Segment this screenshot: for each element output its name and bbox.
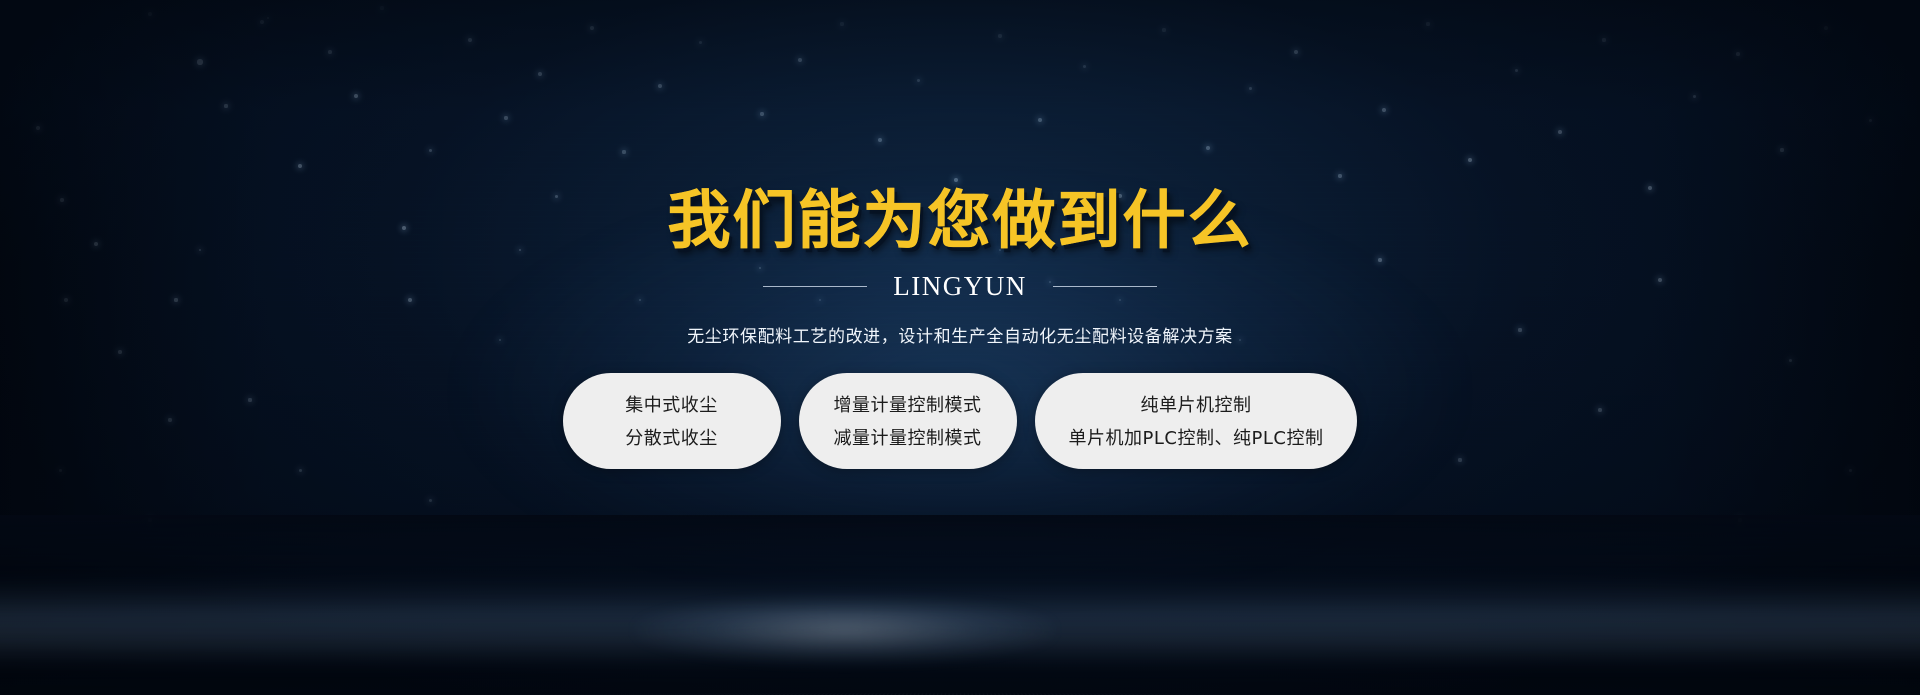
card-line-secondary: 减量计量控制模式 bbox=[834, 424, 982, 450]
brand-name: LINGYUN bbox=[893, 271, 1026, 302]
particle-wave-graphic bbox=[0, 515, 1920, 695]
feature-card-control-system[interactable]: 纯单片机控制 单片机加PLC控制、纯PLC控制 bbox=[1035, 373, 1358, 469]
card-line-primary: 集中式收尘 bbox=[625, 391, 718, 417]
feature-card-list: 集中式收尘 分散式收尘 增量计量控制模式 减量计量控制模式 纯单片机控制 单片机… bbox=[0, 373, 1920, 469]
card-line-secondary: 单片机加PLC控制、纯PLC控制 bbox=[1069, 424, 1324, 450]
feature-card-dust-collection[interactable]: 集中式收尘 分散式收尘 bbox=[563, 373, 781, 469]
hero-banner: 我们能为您做到什么 LINGYUN 无尘环保配料工艺的改进，设计和生产全自动化无… bbox=[0, 0, 1920, 695]
hero-description: 无尘环保配料工艺的改进，设计和生产全自动化无尘配料设备解决方案 bbox=[0, 322, 1920, 347]
page-title: 我们能为您做到什么 bbox=[0, 0, 1920, 257]
card-line-secondary: 分散式收尘 bbox=[625, 424, 718, 450]
feature-card-metering-mode[interactable]: 增量计量控制模式 减量计量控制模式 bbox=[799, 373, 1017, 469]
brand-row: LINGYUN bbox=[0, 271, 1920, 302]
hero-content: 我们能为您做到什么 LINGYUN 无尘环保配料工艺的改进，设计和生产全自动化无… bbox=[0, 0, 1920, 469]
card-line-primary: 增量计量控制模式 bbox=[834, 391, 982, 417]
wave-grid-front bbox=[0, 688, 1920, 695]
brand-rule-right bbox=[1053, 286, 1157, 287]
wave-highlight bbox=[635, 595, 1055, 665]
brand-rule-left bbox=[763, 286, 867, 287]
card-line-primary: 纯单片机控制 bbox=[1141, 391, 1252, 417]
